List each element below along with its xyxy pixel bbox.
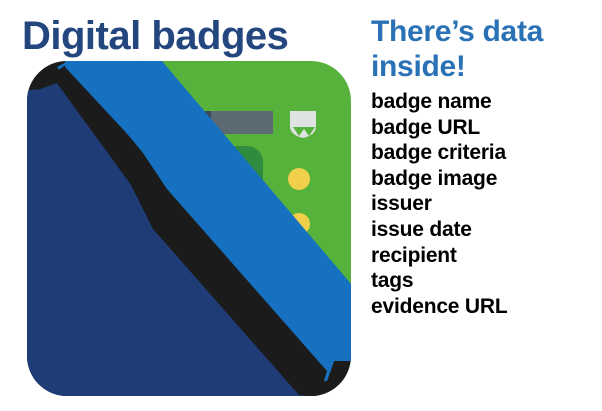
slide-canvas: Digital badges (0, 0, 602, 411)
badge-field-list: badge name badge URL badge criteria badg… (371, 89, 597, 319)
list-item: badge URL (371, 115, 597, 141)
list-item: issuer (371, 191, 597, 217)
list-item: evidence URL (371, 294, 597, 320)
list-item: tags (371, 268, 597, 294)
data-fields-panel: There’s data inside! badge name badge UR… (371, 14, 597, 319)
badge-graphic-svg (27, 61, 351, 396)
list-item: badge criteria (371, 140, 597, 166)
panel-heading: There’s data inside! (371, 14, 597, 84)
list-item: issue date (371, 217, 597, 243)
page-title: Digital badges (22, 12, 362, 60)
badge-illustration (27, 61, 351, 396)
list-item: badge name (371, 89, 597, 115)
list-item: recipient (371, 243, 597, 269)
list-item: badge image (371, 166, 597, 192)
